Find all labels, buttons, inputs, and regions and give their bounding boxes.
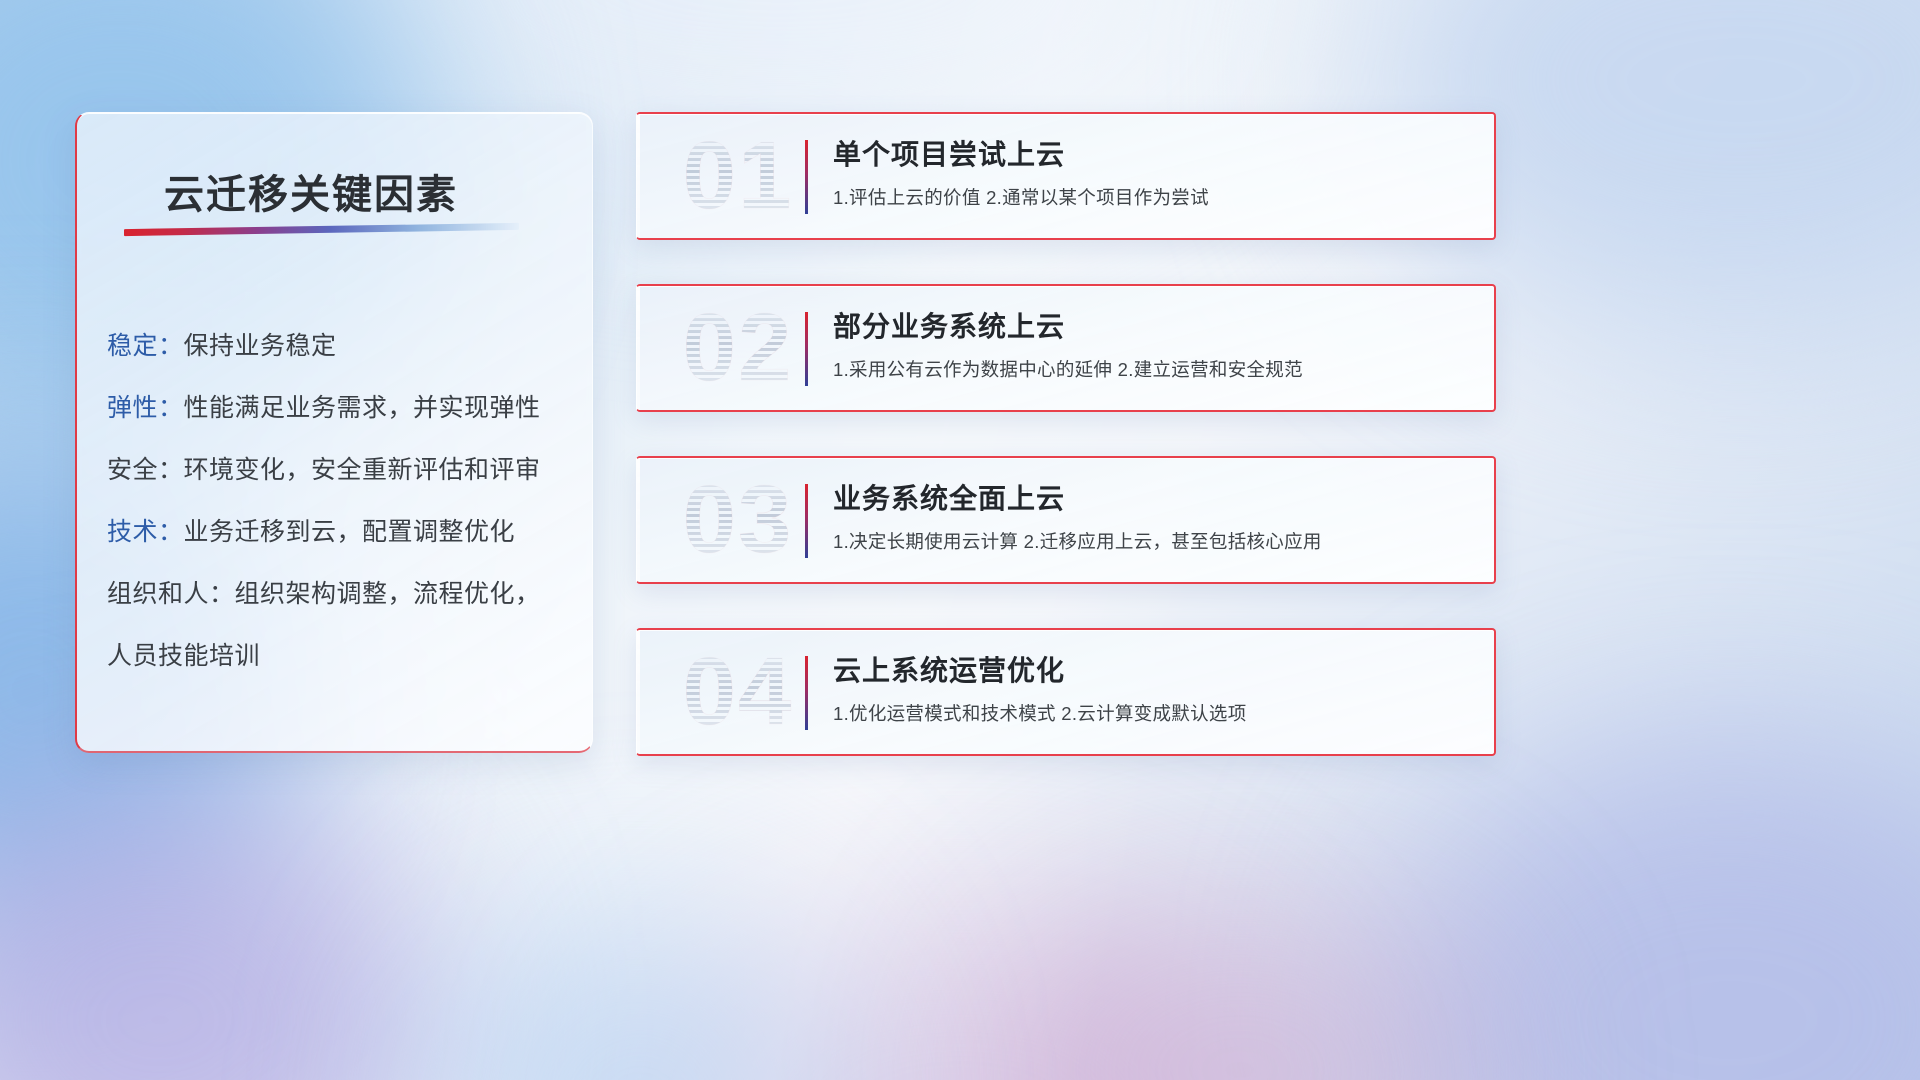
stage-number-watermark: 0101 xyxy=(663,128,813,224)
accent-bar xyxy=(805,656,808,730)
stage-number-watermark: 0303 xyxy=(663,472,813,568)
stage-number-graphic: 0202 xyxy=(663,300,813,396)
stage-card-list: 0101单个项目尝试上云1.评估上云的价值 2.通常以某个项目作为尝试0202部… xyxy=(636,112,1496,800)
factor-row: 技术：业务迁移到云，配置调整优化 xyxy=(107,499,572,561)
factor-text: 环境变化，安全重新评估和评审 xyxy=(184,450,541,486)
stage-number-graphic: 0101 xyxy=(663,128,813,224)
stage-description: 1.采用公有云作为数据中心的延伸 2.建立运营和安全规范 xyxy=(833,357,1472,383)
stage-title: 业务系统全面上云 xyxy=(833,480,1472,518)
stage-number-watermark: 0404 xyxy=(663,644,813,740)
factor-list: 稳定：保持业务稳定弹性：性能满足业务需求，并实现弹性安全：环境变化，安全重新评估… xyxy=(107,313,572,685)
factor-row: 组织和人：组织架构调整，流程优化， xyxy=(107,561,572,623)
stage-description: 1.决定长期使用云计算 2.迁移应用上云，甚至包括核心应用 xyxy=(833,529,1472,555)
key-factors-panel: 云迁移关键因素 稳定：保持业务稳定弹性：性能满足业务需求，并实现弹性安全：环境变… xyxy=(75,112,593,753)
svg-text:01: 01 xyxy=(683,128,794,224)
stage-card[interactable]: 0202部分业务系统上云1.采用公有云作为数据中心的延伸 2.建立运营和安全规范 xyxy=(636,284,1496,412)
factor-text: 组织架构调整，流程优化， xyxy=(235,574,541,610)
stage-title: 云上系统运营优化 xyxy=(833,652,1472,690)
svg-text:04: 04 xyxy=(683,644,794,740)
factor-row: 弹性：性能满足业务需求，并实现弹性 xyxy=(107,375,572,437)
accent-bar xyxy=(805,484,808,558)
factor-text: 性能满足业务需求，并实现弹性 xyxy=(184,388,541,424)
panel-title: 云迁移关键因素 xyxy=(164,162,458,220)
stage-title: 单个项目尝试上云 xyxy=(833,136,1472,174)
stage-card-body: 云上系统运营优化1.优化运营模式和技术模式 2.云计算变成默认选项 xyxy=(833,652,1472,727)
factor-row: 人员技能培训 xyxy=(107,623,572,685)
stage-card[interactable]: 0404云上系统运营优化1.优化运营模式和技术模式 2.云计算变成默认选项 xyxy=(636,628,1496,756)
accent-bar xyxy=(805,140,808,214)
stage-title: 部分业务系统上云 xyxy=(833,308,1472,346)
stage-card[interactable]: 0101单个项目尝试上云1.评估上云的价值 2.通常以某个项目作为尝试 xyxy=(636,112,1496,240)
stage-number-graphic: 0404 xyxy=(663,644,813,740)
svg-text:03: 03 xyxy=(683,472,794,568)
factor-label: 稳定： xyxy=(107,326,184,362)
factor-text: 人员技能培训 xyxy=(107,636,260,672)
factor-label: 安全： xyxy=(107,450,184,486)
factor-text: 业务迁移到云，配置调整优化 xyxy=(184,512,516,548)
stage-card-body: 单个项目尝试上云1.评估上云的价值 2.通常以某个项目作为尝试 xyxy=(833,136,1472,211)
svg-text:02: 02 xyxy=(683,300,794,396)
stage-description: 1.优化运营模式和技术模式 2.云计算变成默认选项 xyxy=(833,701,1472,727)
factor-row: 稳定：保持业务稳定 xyxy=(107,313,572,375)
accent-bar xyxy=(805,312,808,386)
stage-card-body: 部分业务系统上云1.采用公有云作为数据中心的延伸 2.建立运营和安全规范 xyxy=(833,308,1472,383)
factor-label: 组织和人： xyxy=(107,574,235,610)
title-gradient-rule xyxy=(124,223,519,236)
factor-label: 技术： xyxy=(107,512,184,548)
stage-card-body: 业务系统全面上云1.决定长期使用云计算 2.迁移应用上云，甚至包括核心应用 xyxy=(833,480,1472,555)
stage-number-graphic: 0303 xyxy=(663,472,813,568)
stage-number-watermark: 0202 xyxy=(663,300,813,396)
factor-row: 安全：环境变化，安全重新评估和评审 xyxy=(107,437,572,499)
factor-text: 保持业务稳定 xyxy=(184,326,337,362)
stage-card[interactable]: 0303业务系统全面上云1.决定长期使用云计算 2.迁移应用上云，甚至包括核心应… xyxy=(636,456,1496,584)
factor-label: 弹性： xyxy=(107,388,184,424)
stage-description: 1.评估上云的价值 2.通常以某个项目作为尝试 xyxy=(833,185,1472,211)
